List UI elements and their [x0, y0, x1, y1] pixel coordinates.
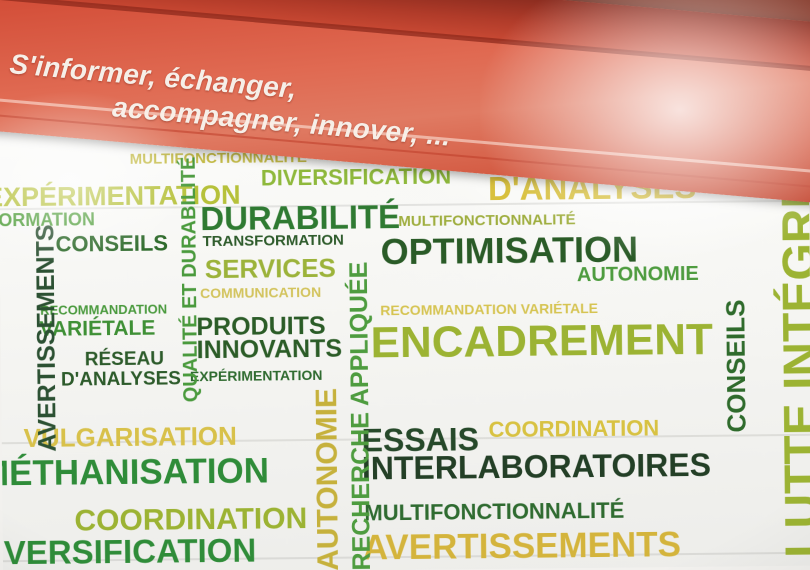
cloud-word: RECOMMANDATION VARIÉTALE: [380, 301, 598, 317]
cloud-word: COORDINATION: [488, 417, 659, 441]
cloud-word: LUTTE INTÉGRÉE: [776, 144, 810, 558]
cloud-word: EXPÉRIMENTATION: [190, 368, 323, 383]
cloud-word: ENCADREMENT: [370, 318, 713, 366]
cloud-word: DURABILITÉ: [200, 200, 400, 235]
cloud-word: MULTIFONCTIONNALITÉ: [398, 212, 575, 229]
cloud-word: AVERTISSEMENTS: [33, 224, 60, 452]
cloud-word: INNOVANTS: [197, 337, 343, 364]
cloud-word: INTERLABORATOIRES: [362, 449, 711, 485]
cloud-word: MULTIFONCTIONNALITÉ: [364, 500, 624, 525]
cloud-word: AVERTISSEMENTS: [363, 527, 682, 565]
cloud-word: AUTONOMIE: [577, 264, 699, 285]
cloud-word: MÉTHANISATION: [0, 453, 269, 491]
cloud-word: RÉSEAU: [85, 350, 164, 370]
cloud-word: D'ANALYSES: [61, 369, 181, 389]
cloud-word: TRANSFORMATION: [202, 233, 344, 249]
cloud-word: CONSEILS: [55, 232, 168, 255]
cloud-word: AUTONOMIE: [312, 388, 344, 570]
cloud-word: SERVICES: [205, 255, 336, 282]
photo-canvas: MULTIFONCTIONNALITÉDIVERSIFICATIONCOORDI…: [0, 0, 810, 570]
cloud-word: DIVERSIFICATION: [0, 534, 256, 570]
cloud-word: QUALITÉ ET DURABILITÉ: [179, 157, 202, 403]
cloud-word: DIVERSIFICATION: [261, 166, 451, 190]
cloud-word: RECHERCHE APPLIQUÉE: [347, 262, 375, 570]
cloud-word: COMMUNICATION: [200, 285, 321, 300]
cloud-word: CONSEILS: [722, 299, 749, 432]
